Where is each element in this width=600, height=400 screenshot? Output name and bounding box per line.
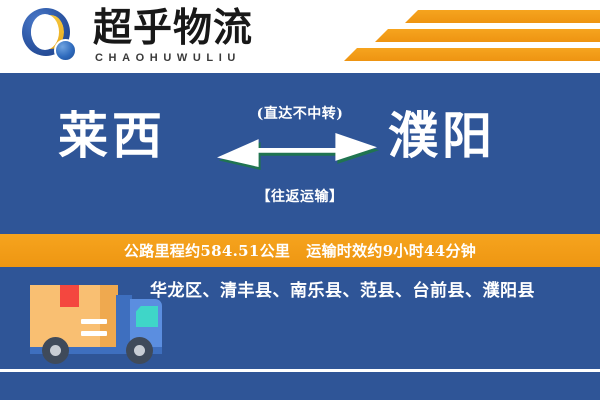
logo-dot-shape xyxy=(54,39,77,62)
speed-stripe-2 xyxy=(375,29,600,42)
info-bar-text-group: 公路里程约584.51公里运输时效约9小时44分钟 xyxy=(124,240,476,261)
banner-body: 莱西 (直达不中转) 【往返运输】 濮阳 公路里程约584.51公里运输时效约9… xyxy=(0,73,600,400)
brand-name-cn: 超乎物流 xyxy=(93,6,293,50)
origin-city-label: 莱西 xyxy=(58,106,166,166)
route-row: 莱西 (直达不中转) 【往返运输】 濮阳 xyxy=(0,73,600,234)
destination-city-label: 濮阳 xyxy=(388,106,496,166)
double-headed-arrow-icon xyxy=(217,133,383,173)
round-trip-note: 【往返运输】 xyxy=(215,186,385,206)
bottom-divider xyxy=(0,369,600,372)
speed-stripe-1 xyxy=(405,10,600,23)
truck-front-wheel xyxy=(126,337,153,364)
arrow-body-shape xyxy=(217,133,377,167)
duration-label: 运输时效约9小时44分钟 xyxy=(306,242,476,260)
destination-areas-list: 华龙区、清丰县、南乐县、范县、台前县、濮阳县 xyxy=(150,276,590,306)
chaohu-logo-icon xyxy=(22,8,80,66)
route-info-bar: 公路里程约584.51公里运输时效约9小时44分钟 xyxy=(0,234,600,267)
truck-front-wheel-hub xyxy=(134,345,145,356)
destination-areas-row: 华龙区、清丰县、南乐县、范县、台前县、濮阳县 xyxy=(150,276,590,306)
banner-header: 超乎物流 CHAOHUWULIU xyxy=(0,0,600,73)
truck-rear-wheel xyxy=(42,337,69,364)
distance-label: 公路里程约584.51公里 xyxy=(124,242,290,260)
truck-stripe-2-shape xyxy=(81,331,107,336)
truck-window-shape xyxy=(136,306,158,327)
speed-stripes-decoration xyxy=(330,0,600,73)
truck-rear-wheel-hub xyxy=(50,345,61,356)
direct-route-note: (直达不中转) xyxy=(215,103,385,123)
speed-stripe-3 xyxy=(344,48,600,61)
brand-block: 超乎物流 CHAOHUWULIU xyxy=(93,6,293,65)
brand-name-en: CHAOHUWULIU xyxy=(93,52,293,65)
logistics-route-banner: 超乎物流 CHAOHUWULIU 莱西 (直达不中转) 【往返运输】 濮阳 xyxy=(0,0,600,400)
route-middle-block: (直达不中转) 【往返运输】 xyxy=(215,95,385,220)
truck-stripe-1-shape xyxy=(81,319,107,324)
truck-parcel-label-shape xyxy=(60,285,79,307)
